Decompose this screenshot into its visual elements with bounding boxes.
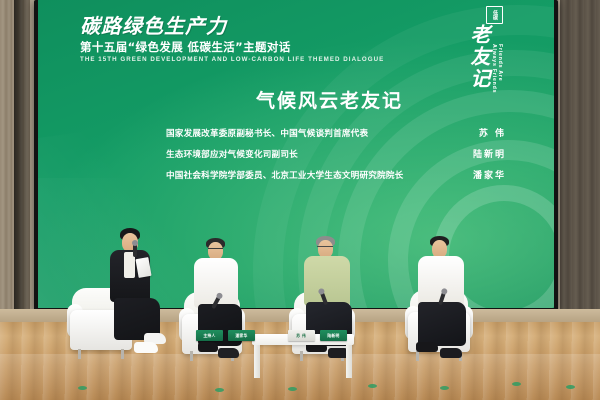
shoe (440, 348, 462, 358)
shoe (416, 342, 438, 352)
session-headline: 气候风云老友记 (256, 86, 403, 113)
name-card: 潘家华 (228, 330, 255, 341)
event-subtitle: 第十五届“绿色发展 低碳生活”主题对话 (80, 39, 291, 55)
person-panelist-4 (416, 236, 474, 368)
person-panelist-2 (192, 238, 248, 368)
name-card: 主持人 (196, 330, 223, 341)
name-card-label: 苏 伟 (297, 333, 307, 339)
floor-marker (440, 386, 449, 390)
low-carbon-badge-label: 低碳 (492, 10, 497, 20)
speaker-name: 潘家华 (473, 168, 506, 181)
speaker-name: 苏 伟 (479, 126, 506, 139)
shoe (198, 342, 218, 352)
side-wall-left-shadow (14, 0, 30, 330)
stage-photo: 碳路绿色生产力 第十五届“绿色发展 低碳生活”主题对话 THE 15TH GRE… (0, 0, 600, 400)
microphone (133, 244, 137, 257)
name-card: 苏 伟 (288, 330, 315, 341)
floor-marker (288, 387, 297, 391)
floor-marker (566, 385, 575, 389)
speaker-name: 陆新明 (473, 147, 506, 160)
armchair-leg (78, 349, 81, 359)
program-logo-title: 老友记 (465, 24, 494, 90)
torso-shirt (304, 256, 350, 306)
name-card: 陆新明 (320, 330, 347, 341)
person-moderator (104, 228, 164, 368)
shoe (134, 342, 158, 353)
speaker-roster: 国家发展改革委原副秘书长、中国气候谈判首席代表 苏 伟 生态环境部应对气候变化司… (166, 126, 506, 189)
speaker-role: 生态环境部应对气候变化司副司长 (166, 148, 298, 160)
roster-row: 国家发展改革委原副秘书长、中国气候谈判首席代表 苏 伟 (166, 126, 506, 139)
name-card-label: 陆新明 (327, 333, 339, 339)
table-leg (346, 345, 352, 378)
name-card-label: 主持人 (203, 333, 215, 339)
speaker-role: 中国社会科学院学部委员、北京工业大学生态文明研究院院长 (166, 169, 403, 181)
floor-marker (78, 386, 87, 390)
speaker-role: 国家发展改革委原副秘书长、中国气候谈判首席代表 (166, 127, 368, 139)
side-wall-right (560, 0, 600, 335)
shoe (218, 348, 239, 358)
program-logo-english: Friends Are Always Friends (491, 44, 503, 100)
glasses-icon (208, 248, 223, 252)
floor-marker (215, 388, 224, 392)
name-card-label: 潘家华 (235, 333, 247, 339)
legs-trousers (418, 302, 466, 346)
event-title: 碳路绿色生产力 (80, 10, 227, 39)
event-title-english: THE 15TH GREEN DEVELOPMENT AND LOW-CARBO… (80, 56, 384, 63)
roster-row: 中国社会科学院学部委员、北京工业大学生态文明研究院院长 潘家华 (166, 168, 506, 181)
glasses-icon (317, 246, 333, 250)
low-carbon-badge-icon: 低碳 (486, 6, 503, 24)
table-leg (254, 345, 260, 378)
floor-marker (368, 384, 377, 388)
roster-row: 生态环境部应对气候变化司副司长 陆新明 (166, 147, 506, 160)
program-logo: 低碳 老友记 Friends Are Always Friends (458, 4, 504, 100)
floor-marker (512, 382, 521, 386)
